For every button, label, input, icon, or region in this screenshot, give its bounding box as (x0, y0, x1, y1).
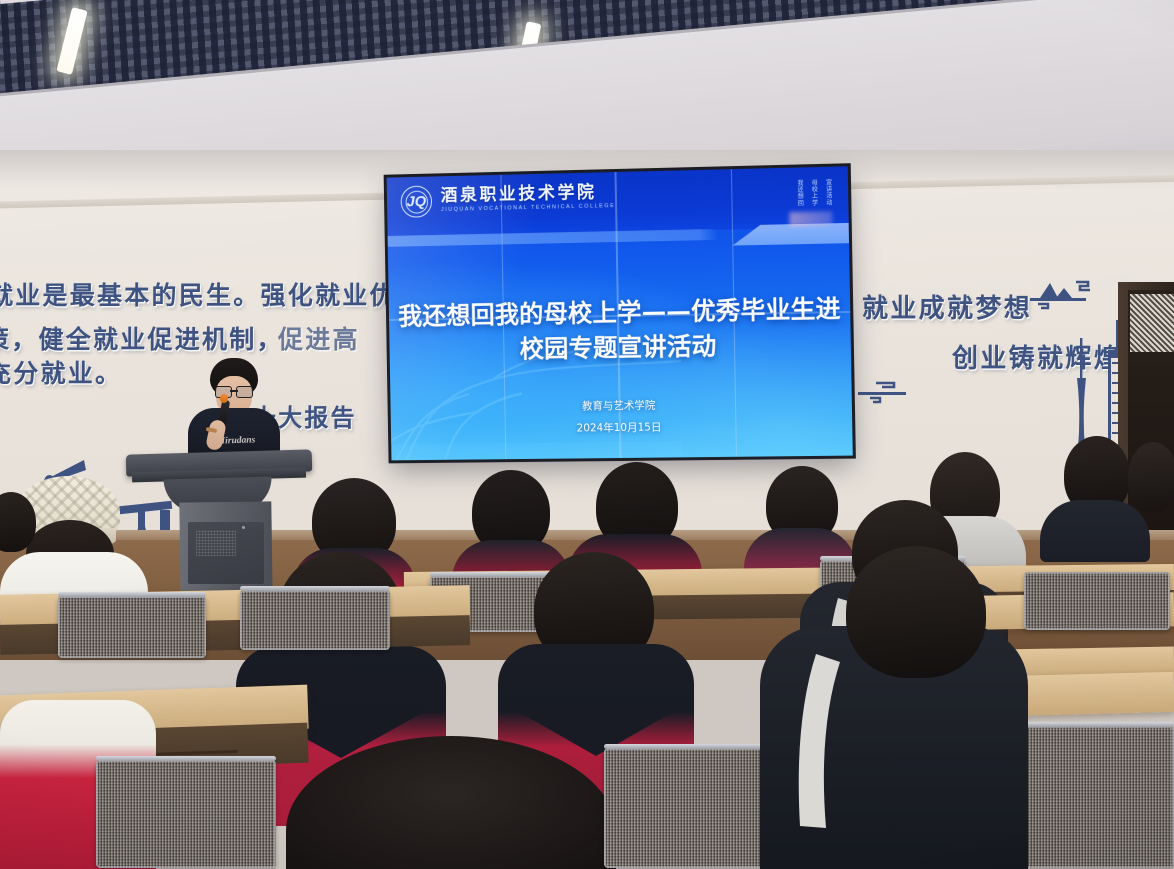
chair-rail (240, 586, 390, 591)
college-name-cn: 酒泉职业技术学院 (441, 184, 616, 205)
college-logo: JQ 酒泉职业技术学院 JIUQUAN VOCATIONAL TECHNICAL… (400, 181, 615, 218)
college-seal-icon: JQ (400, 185, 432, 217)
screen-glare-smudge (789, 211, 832, 226)
chair[interactable] (1024, 572, 1170, 630)
chair[interactable] (96, 760, 276, 868)
wall-slogan-left-line3: 充分就业。 (0, 354, 122, 390)
cloud-scroll-icon (856, 378, 916, 408)
wall-slogan-right-line1: 就业成就梦想 (862, 288, 1032, 325)
college-name-block: 酒泉职业技术学院 JIUQUAN VOCATIONAL TECHNICAL CO… (441, 184, 616, 213)
wall-slogan-left-line2: 策，健全就业促进机制， (0, 320, 284, 356)
college-name-en: JIUQUAN VOCATIONAL TECHNICAL COLLEGE (441, 204, 616, 213)
audience-head (1128, 442, 1174, 512)
audience-torso (1040, 500, 1150, 562)
seal-glyph: JQ (406, 193, 426, 210)
wall-slogan-left-line1: 就业是最基本的民生。强化就业优 (0, 276, 397, 312)
door-grille (1130, 294, 1174, 352)
podium-indicator (242, 526, 245, 529)
podium (126, 452, 312, 602)
wall-slogan-left-line2-overlap: 促进高 (278, 320, 360, 356)
audience-head-foreground (846, 546, 986, 678)
chair-rail (96, 756, 276, 761)
podium-vent (196, 530, 236, 556)
led-video-wall[interactable]: JQ 酒泉职业技术学院 JIUQUAN VOCATIONAL TECHNICAL… (387, 166, 853, 460)
slide-title: 我还想回我的母校上学——优秀毕业生进校园专题宣讲活动 (389, 292, 851, 369)
mountain-cloud-icon (1026, 274, 1098, 318)
chair[interactable] (58, 596, 206, 658)
lecture-hall-photo: 就业是最基本的民生。强化就业优 策，健全就业促进机制， 促进高 充分就业。 十大… (0, 0, 1174, 869)
chair[interactable] (240, 590, 390, 650)
chair-rail (58, 592, 206, 597)
